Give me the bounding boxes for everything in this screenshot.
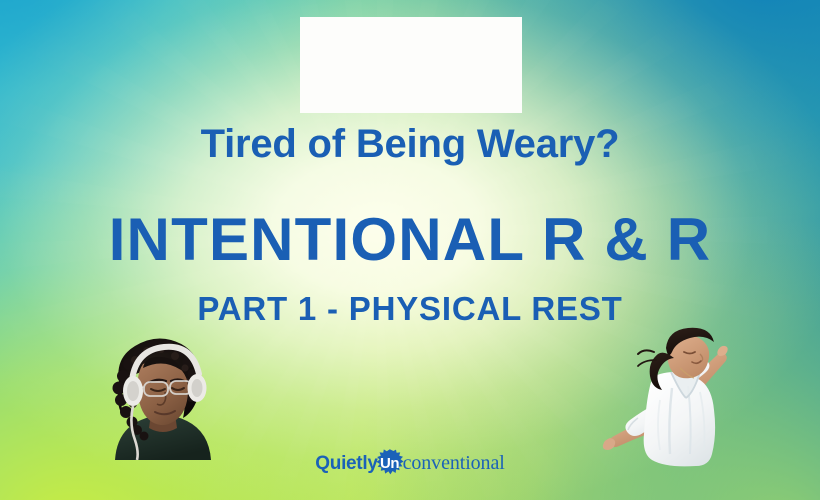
promotional-graphic: Tired of Being Weary? INTENTIONAL R & R … [0, 0, 820, 500]
subtitle-text: PART 1 - PHYSICAL REST [0, 270, 820, 325]
headline-block: Tired of Being Weary? INTENTIONAL R & R … [0, 124, 820, 325]
bulldog-photo-backdrop [300, 17, 522, 113]
sleeping-bulldog-photo [300, 17, 522, 113]
woman-with-headphones-illustration [99, 334, 225, 460]
brand-logo[interactable]: Quietly Un conventional [0, 448, 820, 478]
page-title: INTENTIONAL R & R [0, 164, 820, 270]
logo-word-quietly: Quietly [315, 454, 377, 473]
logo-ink-blob: Un [375, 448, 405, 478]
woman-with-headphones-photo [99, 334, 225, 460]
logo-word-un: Un [375, 448, 405, 478]
logo-word-conventional: conventional [403, 453, 505, 473]
kicker-text: Tired of Being Weary? [0, 124, 820, 164]
brand-logo-lockup: Quietly Un conventional [315, 448, 504, 478]
